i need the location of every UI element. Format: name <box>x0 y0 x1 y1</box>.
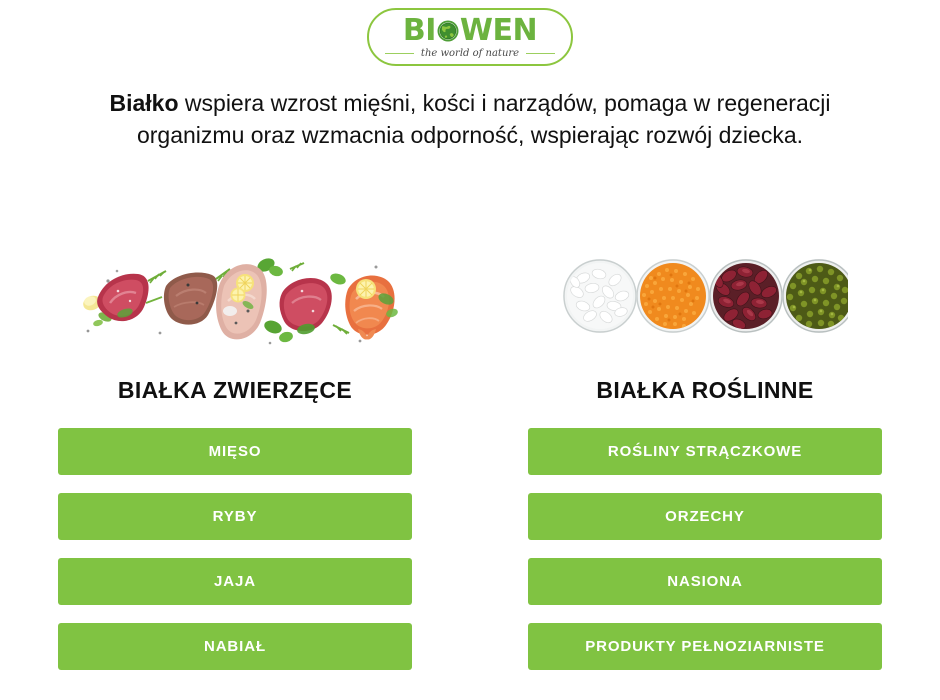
tagline-rule-left <box>385 53 414 54</box>
protein-pill-dairy[interactable]: NABIAŁ <box>58 623 412 670</box>
column-title-animal: BIAŁKA ZWIERZĘCE <box>118 377 352 404</box>
brand-wordmark: BI WEN <box>403 16 537 46</box>
protein-pill-wholegrain[interactable]: PRODUKTY PEŁNOZIARNISTE <box>528 623 882 670</box>
column-plant-proteins: BIAŁKA ROŚLINNE ROŚLINY STRĄCZKOWE ORZEC… <box>470 238 940 670</box>
plant-protein-list: ROŚLINY STRĄCZKOWE ORZECHY NASIONA PRODU… <box>528 428 882 670</box>
intro-paragraph: Białko wspiera wzrost mięśni, kości i na… <box>75 88 865 151</box>
protein-pill-fish[interactable]: RYBY <box>58 493 412 540</box>
intro-body-text: wspiera wzrost mięśni, kości i narządów,… <box>137 90 831 148</box>
protein-pill-eggs[interactable]: JAJA <box>58 558 412 605</box>
brand-tagline-row: the world of nature <box>385 48 555 59</box>
raw-meat-fish-photo <box>70 238 400 353</box>
globe-icon <box>436 19 460 43</box>
column-title-plant: BIAŁKA ROŚLINNE <box>596 377 813 404</box>
animal-protein-list: MIĘSO RYBY JAJA NABIAŁ <box>58 428 412 670</box>
tagline-rule-right <box>526 53 555 54</box>
protein-pill-nuts[interactable]: ORZECHY <box>528 493 882 540</box>
intro-lead-word: Białko <box>110 90 179 116</box>
protein-pill-legumes[interactable]: ROŚLINY STRĄCZKOWE <box>528 428 882 475</box>
brand-name-suffix: WEN <box>460 16 537 46</box>
protein-pill-seeds[interactable]: NASIONA <box>528 558 882 605</box>
brand-tagline: the world of nature <box>414 48 526 59</box>
brand-logo[interactable]: BI WEN the world of nature <box>367 8 573 66</box>
column-animal-proteins: BIAŁKA ZWIERZĘCE MIĘSO RYBY JAJA NABIAŁ <box>0 238 470 670</box>
protein-pill-meat[interactable]: MIĘSO <box>58 428 412 475</box>
protein-columns: BIAŁKA ZWIERZĘCE MIĘSO RYBY JAJA NABIAŁ <box>0 238 940 670</box>
brand-name-prefix: BI <box>403 16 436 46</box>
logo-header: BI WEN the world of nature <box>0 0 940 66</box>
legume-bowls-photo <box>563 238 848 353</box>
